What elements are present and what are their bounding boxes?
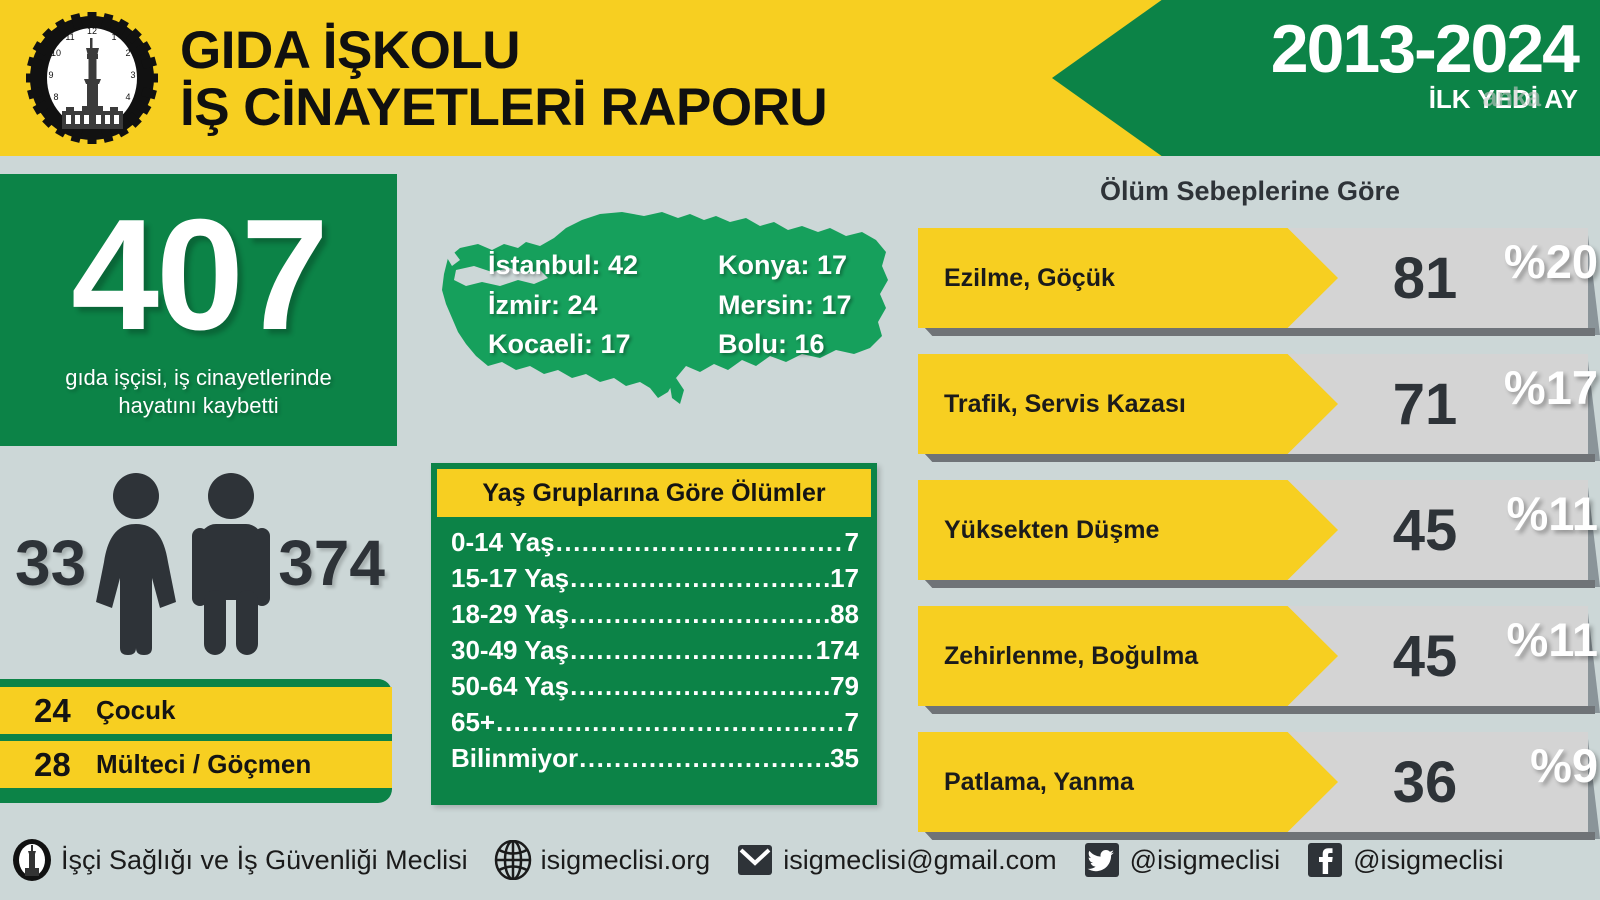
age-row-name: 15-17 Yaş	[451, 565, 569, 591]
svg-text:10: 10	[51, 48, 61, 58]
cause-row: Zehirlenme, Boğulma 45 %11	[918, 606, 1600, 713]
footer-twitter-label: @isigmeclisi	[1130, 845, 1280, 876]
map-city-konya: Konya: 17	[718, 248, 898, 284]
title-line-2: İŞ CİNAYETLERİ RAPORU	[180, 79, 1040, 136]
cause-count: 81	[1370, 228, 1480, 328]
map-city-izmir: İzmir: 24	[488, 288, 718, 324]
footer-org: İşçi Sağlığı ve İş Güvenliği Meclisi	[12, 838, 468, 882]
turkey-map: İstanbul: 42 Konya: 17 İzmir: 24 Mersin:…	[430, 186, 900, 436]
cause-percent: %11	[1478, 482, 1598, 544]
age-row-dots: ........................................…	[496, 709, 843, 735]
cause-bar-fill: Yüksekten Düşme	[918, 480, 1338, 580]
cause-count: 71	[1370, 354, 1480, 454]
age-groups-box: Yaş Gruplarına Göre Ölümler 0-14 Yaş ...…	[431, 463, 877, 805]
svg-text:11: 11	[65, 32, 74, 42]
special-group-row-refugee: 28 Mülteci / Göçmen	[0, 741, 392, 788]
age-row-name: Bilinmiyor	[451, 745, 578, 771]
gender-figures	[90, 470, 274, 655]
total-deaths-count: 407	[0, 196, 397, 354]
cause-label: Patlama, Yanma	[918, 768, 1134, 797]
age-groups-list: 0-14 Yaş ...............................…	[437, 517, 871, 771]
footer-bar: İşçi Sağlığı ve İş Güvenliği Meclisi isi…	[0, 820, 1600, 900]
cause-label: Ezilme, Göçük	[918, 264, 1115, 293]
twitter-icon	[1083, 841, 1121, 879]
cause-percent: %9	[1478, 734, 1598, 796]
age-row-name: 18-29 Yaş	[451, 601, 569, 627]
footer-facebook[interactable]: @isigmeclisi	[1306, 841, 1503, 879]
age-row-value: 79	[830, 673, 859, 699]
globe-icon	[494, 840, 532, 880]
cause-row: Trafik, Servis Kazası 71 %17	[918, 354, 1600, 461]
age-row-value: 88	[830, 601, 859, 627]
age-row-dots: ........................................…	[570, 673, 829, 699]
special-group-row-child: 24 Çocuk	[0, 687, 392, 734]
watermark-text: anka	[1482, 82, 1540, 113]
cause-row: Yüksekten Düşme 45 %11	[918, 480, 1600, 587]
footer-twitter[interactable]: @isigmeclisi	[1083, 841, 1280, 879]
title-line-1: GIDA İŞKOLU	[180, 22, 1040, 79]
age-groups-title: Yaş Gruplarına Göre Ölümler	[437, 469, 871, 517]
footer-website[interactable]: isigmeclisi.org	[494, 840, 711, 880]
cause-fill-shadow	[925, 706, 1290, 714]
gender-breakdown: 33 374	[0, 455, 400, 670]
age-row-name: 50-64 Yaş	[451, 673, 569, 699]
age-row-dots: ........................................…	[579, 745, 829, 771]
age-row-name: 0-14 Yaş	[451, 529, 555, 555]
woman-figure-icon	[90, 470, 182, 655]
age-row: 50-64 Yaş ..............................…	[451, 673, 859, 699]
age-row-dots: ........................................…	[570, 565, 829, 591]
clock-tower-gear-logo-icon: 12 1 2 3 4 5 6 7 8 9 10 11	[18, 8, 166, 148]
map-city-mersin: Mersin: 17	[718, 288, 898, 324]
cause-count: 36	[1370, 732, 1480, 832]
male-count: 374	[278, 526, 385, 600]
footer-facebook-label: @isigmeclisi	[1353, 845, 1503, 876]
infographic-page: 12 1 2 3 4 5 6 7 8 9 10 11	[0, 0, 1600, 900]
age-row: 65+ ....................................…	[451, 709, 859, 735]
footer-email-label: isigmeclisi@gmail.com	[783, 845, 1056, 876]
svg-text:4: 4	[125, 92, 130, 102]
child-count: 24	[34, 692, 96, 730]
female-count: 33	[15, 526, 86, 600]
cause-fill-shadow	[925, 580, 1290, 588]
causes-chart: Ezilme, Göçük 81 %20 Trafik, Servis Kaza…	[918, 228, 1600, 858]
total-deaths-panel: 407 gıda işçisi, iş cinayetlerinde hayat…	[0, 174, 397, 446]
footer-email[interactable]: isigmeclisi@gmail.com	[736, 841, 1056, 879]
man-figure-icon	[188, 470, 274, 655]
svg-text:3: 3	[130, 70, 135, 80]
footer-org-label: İşçi Sağlığı ve İş Güvenliği Meclisi	[61, 845, 468, 876]
map-city-bolu: Bolu: 16	[718, 327, 898, 363]
cause-percent: %11	[1478, 608, 1598, 670]
cause-label: Yüksekten Düşme	[918, 516, 1159, 545]
age-row: 0-14 Yaş ...............................…	[451, 529, 859, 555]
page-title: GIDA İŞKOLU İŞ CİNAYETLERİ RAPORU	[180, 14, 1040, 144]
cause-fill-shadow	[925, 328, 1290, 336]
header-bar: 12 1 2 3 4 5 6 7 8 9 10 11	[0, 0, 1600, 156]
footer-website-label: isigmeclisi.org	[541, 845, 711, 876]
age-row: 18-29 Yaş ..............................…	[451, 601, 859, 627]
age-row-value: 17	[830, 565, 859, 591]
age-row-dots: ........................................…	[570, 637, 815, 663]
cause-label: Trafik, Servis Kazası	[918, 390, 1186, 419]
cause-fill-shadow	[925, 454, 1290, 462]
cause-count: 45	[1370, 480, 1480, 580]
year-range: 2013-2024	[1108, 16, 1578, 83]
facebook-icon	[1306, 841, 1344, 879]
age-row-value: 35	[830, 745, 859, 771]
cause-percent: %20	[1478, 230, 1598, 292]
age-row-value: 174	[816, 637, 859, 663]
age-row-value: 7	[845, 709, 859, 735]
age-row: 15-17 Yaş ..............................…	[451, 565, 859, 591]
child-label: Çocuk	[96, 695, 175, 726]
cause-bar-fill: Zehirlenme, Boğulma	[918, 606, 1338, 706]
age-row: Bilinmiyor .............................…	[451, 745, 859, 771]
clock-tower-gear-logo-icon	[12, 838, 52, 882]
cause-bar-fill: Ezilme, Göçük	[918, 228, 1338, 328]
svg-text:12: 12	[87, 26, 97, 36]
svg-text:1: 1	[111, 32, 116, 42]
mail-icon	[736, 841, 774, 879]
age-row-name: 30-49 Yaş	[451, 637, 569, 663]
cause-percent: %17	[1478, 356, 1598, 418]
special-groups-box: 24 Çocuk 28 Mülteci / Göçmen	[0, 679, 392, 803]
cause-row: Ezilme, Göçük 81 %20	[918, 228, 1600, 335]
cause-count: 45	[1370, 606, 1480, 706]
map-city-labels: İstanbul: 42 Konya: 17 İzmir: 24 Mersin:…	[488, 248, 898, 363]
map-city-kocaeli: Kocaeli: 17	[488, 327, 718, 363]
cause-label: Zehirlenme, Boğulma	[918, 642, 1198, 671]
cause-bar-fill: Patlama, Yanma	[918, 732, 1338, 832]
age-row-value: 7	[845, 529, 859, 555]
refugee-count: 28	[34, 746, 96, 784]
map-city-istanbul: İstanbul: 42	[488, 248, 718, 284]
total-deaths-caption: gıda işçisi, iş cinayetlerinde hayatını …	[0, 364, 397, 420]
age-row-dots: ........................................…	[556, 529, 844, 555]
age-row: 30-49 Yaş ..............................…	[451, 637, 859, 663]
svg-text:8: 8	[53, 92, 58, 102]
svg-text:2: 2	[125, 48, 130, 58]
age-row-name: 65+	[451, 709, 495, 735]
svg-text:9: 9	[48, 70, 53, 80]
age-row-dots: ........................................…	[570, 601, 829, 627]
refugee-label: Mülteci / Göçmen	[96, 749, 311, 780]
causes-title: Ölüm Sebeplerine Göre	[900, 176, 1600, 207]
cause-bar-fill: Trafik, Servis Kazası	[918, 354, 1338, 454]
